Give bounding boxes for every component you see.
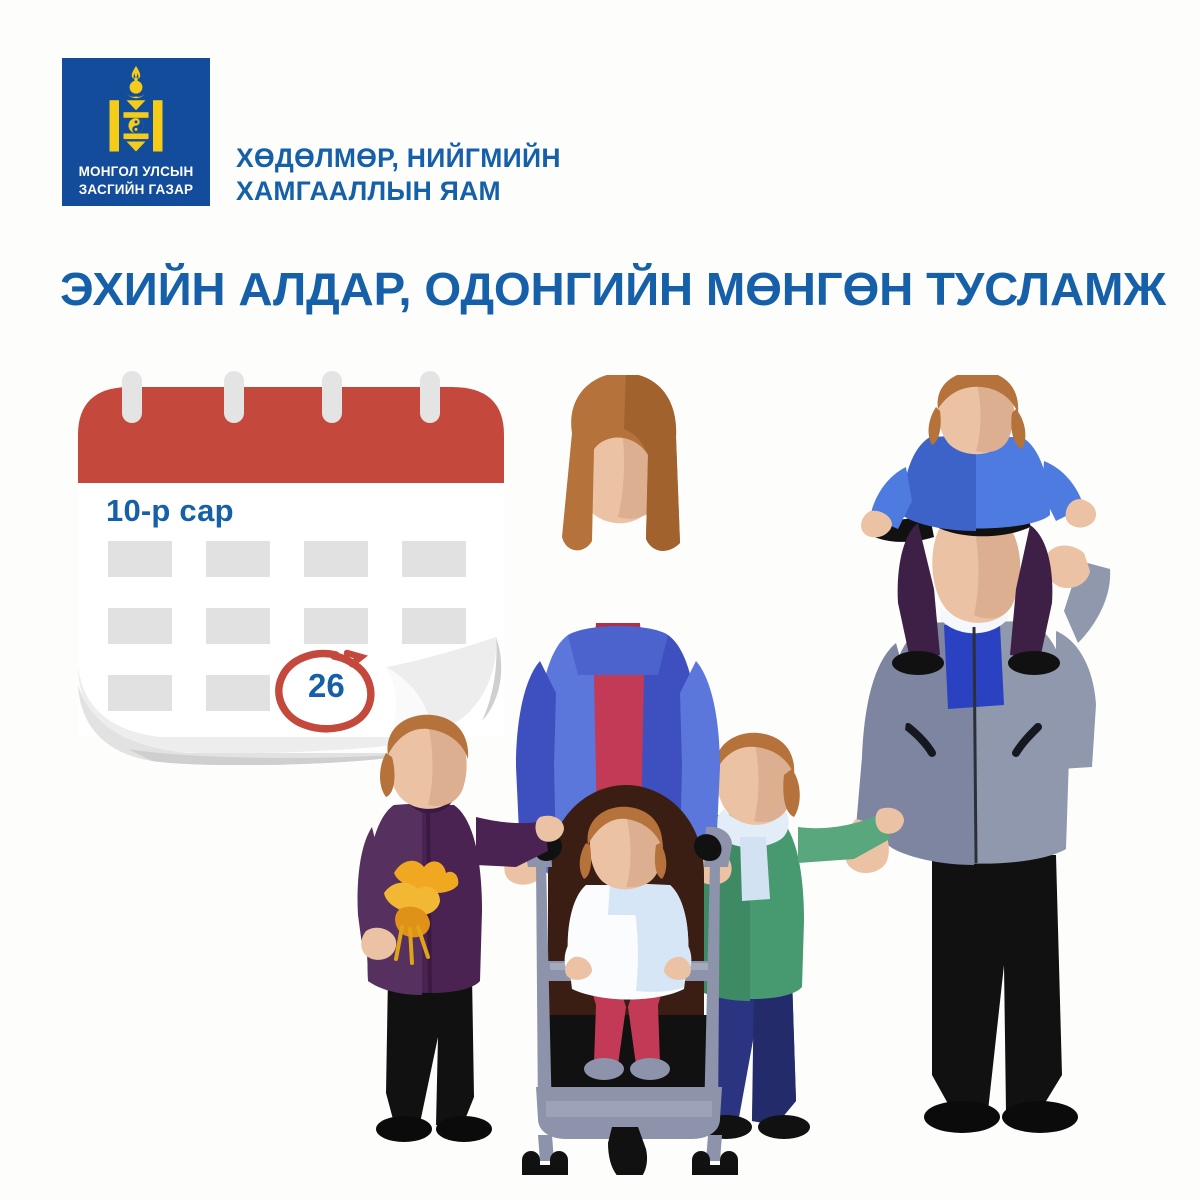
calendar-ring — [224, 371, 244, 423]
family-graphic — [340, 375, 1140, 1175]
shoulder-child-hand-right — [1066, 499, 1096, 528]
poster-canvas: МОНГОЛ УЛСЫН ЗАСГИЙН ГАЗАР ХӨДӨЛМӨР, НИЙ… — [0, 0, 1200, 1200]
father-trousers — [932, 855, 1062, 1111]
logo-caption-line-1: МОНГОЛ УЛСЫН — [62, 163, 210, 180]
calendar-cell — [108, 541, 172, 577]
stroller-axle — [536, 1165, 554, 1175]
green-child-scarf-tail — [740, 837, 770, 901]
shoulder-child-shoe-left — [892, 651, 944, 675]
calendar-month-label: 10-р сар — [106, 493, 234, 529]
father-face-shade — [974, 525, 1020, 619]
logo-caption-line-2: ЗАСГИЙН ГАЗАР — [62, 181, 210, 198]
stroller-axle — [706, 1165, 724, 1175]
page-title: ЭХИЙН АЛДАР, ОДОНГИЙН МӨНГӨН ТУСЛАМЖ — [60, 262, 1166, 316]
calendar-ring — [122, 371, 142, 423]
figure-father — [844, 473, 1110, 1133]
mongolia-government-logo: МОНГОЛ УЛСЫН ЗАСГИЙН ГАЗАР — [62, 58, 210, 206]
government-logo-block: МОНГОЛ УЛСЫН ЗАСГИЙН ГАЗАР ХӨДӨЛМӨР, НИЙ… — [62, 58, 561, 209]
logo-caption: МОНГОЛ УЛСЫН ЗАСГИЙН ГАЗАР — [62, 163, 210, 198]
calendar-cell — [206, 541, 270, 577]
leaf-child-shoe-right — [436, 1116, 492, 1142]
soyombo-icon — [103, 66, 169, 158]
calendar-cell — [108, 675, 172, 711]
stroller-bottom-highlight — [546, 1101, 712, 1117]
shoulder-child-shoe-right — [1008, 651, 1060, 675]
family-illustration — [340, 375, 1140, 1175]
baby-shoe-right — [630, 1058, 670, 1080]
calendar-cell — [206, 608, 270, 644]
green-child-trousers-shade — [752, 977, 796, 1125]
father-shoe-right — [1002, 1101, 1078, 1133]
leaf-child-trousers — [386, 975, 474, 1127]
father-shoe-left — [924, 1101, 1000, 1133]
calendar-ring — [322, 371, 342, 423]
father-arm-right-lower — [1056, 631, 1096, 769]
mother-jacket-shoulders — [568, 626, 668, 675]
baby-shoe-left — [584, 1058, 624, 1080]
ministry-name: ХӨДӨЛМӨР, НИЙГМИЙН ХАМГААЛЛЫН ЯАМ — [236, 142, 561, 209]
green-child-shoe-right — [758, 1115, 810, 1139]
leaf-child-hair-left — [380, 753, 394, 797]
father-zipper — [974, 627, 976, 863]
shoulder-child-leg-left — [898, 523, 940, 659]
calendar-cell — [206, 675, 270, 711]
calendar-cell — [108, 608, 172, 644]
leaf-child-shoe-left — [376, 1116, 432, 1142]
